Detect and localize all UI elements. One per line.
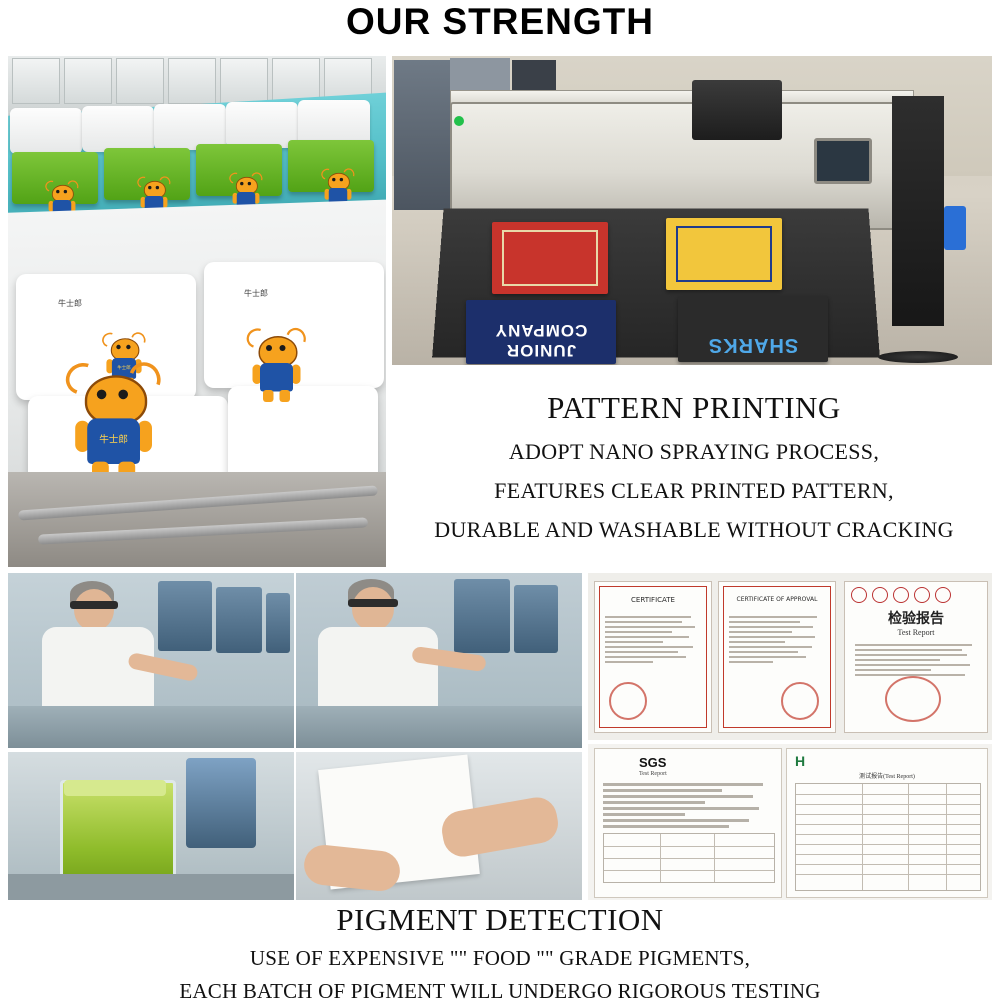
print-head — [692, 80, 782, 140]
bull-eye — [280, 345, 286, 351]
h-logo: H — [795, 753, 805, 769]
shirt-on-pallet — [10, 108, 82, 154]
printed-tile-sharks: SHARKS — [678, 296, 828, 362]
pigment-heading: PIGMENT DETECTION — [0, 902, 1000, 938]
bull-eye — [126, 345, 130, 349]
bull-eye — [116, 345, 120, 349]
beaker-foam — [64, 780, 166, 796]
lab-equipment — [216, 587, 262, 653]
bull-chest-text: 牛士郎 — [90, 433, 138, 446]
page-title: OUR STRENGTH — [0, 0, 1000, 46]
photo-test-reports-row: SGS Test Report H 测试报告(Test Report) — [588, 744, 992, 900]
h-test-report: H 测试报告(Test Report) — [786, 748, 988, 898]
bull-eye — [156, 186, 159, 189]
photo-lab-technician-left — [8, 573, 294, 748]
ceiling-panel — [64, 58, 112, 104]
pattern-line-1: ADOPT NANO SPRAYING PROCESS, — [392, 439, 996, 465]
printed-tile-junior-company: JUNIOR COMPANY — [466, 300, 616, 364]
lab-bench — [296, 706, 582, 748]
bull-eye — [56, 190, 59, 193]
bull-eye — [240, 182, 243, 185]
status-led — [454, 116, 464, 126]
bench-surface — [8, 874, 294, 900]
blue-container — [944, 206, 966, 250]
technician-head — [74, 589, 114, 631]
ceiling-panel — [116, 58, 164, 104]
bull-eye — [340, 178, 343, 181]
lab-equipment — [266, 593, 290, 653]
certificate-of-approval-left: CERTIFICATE — [594, 581, 712, 733]
side-column — [892, 96, 944, 326]
lab-equipment — [454, 579, 510, 653]
inspection-report-title-cn: 检验报告 — [845, 608, 987, 628]
sgs-logo: SGS — [639, 755, 666, 770]
pattern-printing-text-block: PATTERN PRINTING ADOPT NANO SPRAYING PRO… — [392, 372, 996, 562]
bull-eye — [64, 190, 67, 193]
lab-equipment — [514, 585, 558, 653]
shirt-side-logo-text: 牛士郎 — [58, 298, 82, 309]
lab-bench — [8, 706, 294, 748]
inspection-report-title-en: Test Report — [845, 628, 987, 637]
photo-hands-holding-fabric — [296, 752, 582, 900]
red-seal-stamp — [885, 676, 941, 722]
shirt-on-pallet — [82, 106, 154, 152]
pattern-line-2: FEATURES CLEAR PRINTED PATTERN, — [392, 478, 996, 504]
printed-tile — [666, 218, 782, 290]
eyeglasses-icon — [70, 601, 118, 609]
bull-eye — [118, 390, 128, 400]
bull-eye — [148, 186, 151, 189]
inspection-report: 检验报告 Test Report — [844, 581, 988, 733]
pigment-line-1: USE OF EXPENSIVE "" FOOD "" GRADE PIGMEN… — [0, 946, 1000, 971]
pattern-heading: PATTERN PRINTING — [392, 390, 996, 426]
report-data-grid — [603, 833, 775, 883]
bull-body — [260, 363, 293, 392]
photo-uv-flatbed-printer: JUNIOR COMPANY SHARKS — [392, 56, 992, 365]
lab-equipment — [158, 581, 212, 651]
photo-lab-technician-right — [296, 573, 582, 748]
lab-equipment — [186, 758, 256, 848]
bull-eye — [248, 182, 251, 185]
certificate-title: CERTIFICATE OF APPROVAL — [719, 596, 835, 603]
printed-tile — [492, 222, 608, 294]
wall-cabinet — [394, 60, 450, 210]
photo-screen-printing-line: 牛士郎 牛士郎 牛士郎 牛士郎 — [8, 56, 386, 567]
sgs-test-report: SGS Test Report — [594, 748, 782, 898]
pattern-line-3: DURABLE AND WASHABLE WITHOUT CRACKING — [392, 517, 996, 543]
h-subtitle: 测试报告(Test Report) — [787, 771, 987, 780]
bull-eye — [266, 345, 272, 351]
red-seal-stamp — [609, 682, 647, 720]
shirt-on-pallet — [226, 102, 298, 148]
ceiling-panel — [220, 58, 268, 104]
pigment-line-2: EACH BATCH OF PIGMENT WILL UNDERGO RIGOR… — [0, 979, 1000, 1004]
certificate-title: CERTIFICATE — [595, 596, 711, 604]
ceiling-panel — [12, 58, 60, 104]
red-seal-stamp — [781, 682, 819, 720]
printer-control-screen — [814, 138, 872, 184]
bull-eye — [97, 390, 107, 400]
tile-label: SHARKS — [678, 333, 828, 356]
bull-eye — [332, 178, 335, 181]
certification-marks — [851, 587, 951, 603]
photo-green-pigment-beaker — [8, 752, 294, 900]
sgs-subtitle: Test Report — [639, 771, 667, 777]
ceiling-panel — [168, 58, 216, 104]
bull-mascot-graphic: 牛士郎 — [68, 356, 159, 481]
certificate-of-approval-right: CERTIFICATE OF APPROVAL — [718, 581, 836, 733]
tile-label: JUNIOR COMPANY — [466, 320, 616, 360]
photo-certificates-row: CERTIFICATE CERTIFICATE OF APPROVAL — [588, 573, 992, 740]
column-base — [878, 351, 958, 363]
pigment-detection-text-block: PIGMENT DETECTION USE OF EXPENSIVE "" FO… — [0, 900, 1000, 1000]
bull-leg — [263, 390, 274, 402]
technician-head — [352, 587, 394, 631]
bull-leg — [280, 390, 291, 402]
report-data-grid — [795, 783, 981, 891]
bull-mascot-graphic — [248, 324, 305, 402]
eyeglasses-icon — [348, 599, 398, 607]
shirt-side-logo-text: 牛士郎 — [244, 288, 268, 299]
